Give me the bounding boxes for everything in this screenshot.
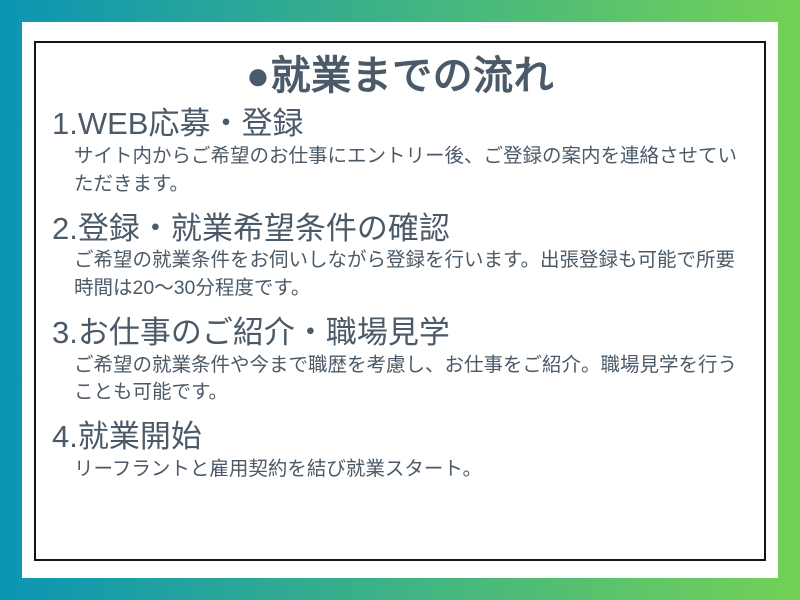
hand-drawn-frame: ●就業までの流れ 1.WEB応募・登録 サイト内からご希望のお仕事にエントリー後… (34, 41, 766, 561)
poster-root: ●就業までの流れ 1.WEB応募・登録 サイト内からご希望のお仕事にエントリー後… (0, 0, 800, 600)
step-4-heading: 4.就業開始 (52, 419, 750, 455)
step-3-body: ご希望の就業条件や今まで職歴を考慮し、お仕事をご紹介。職場見学を行うことも可能で… (74, 352, 750, 407)
step-1-heading: 1.WEB応募・登録 (52, 106, 750, 142)
page-title: ●就業までの流れ (50, 53, 750, 100)
step-item-2: 2.登録・就業希望条件の確認 ご希望の就業条件をお伺いしながら登録を行います。出… (50, 211, 750, 303)
step-2-body: ご希望の就業条件をお伺いしながら登録を行います。出張登録も可能で所要時間は20〜… (74, 247, 750, 302)
step-4-body: リーフラントと雇用契約を結び就業スタート。 (74, 456, 750, 484)
step-1-body: サイト内からご希望のお仕事にエントリー後、ご登録の案内を連絡させていただきます。 (74, 143, 750, 198)
step-item-4: 4.就業開始 リーフラントと雇用契約を結び就業スタート。 (50, 419, 750, 484)
step-item-1: 1.WEB応募・登録 サイト内からご希望のお仕事にエントリー後、ご登録の案内を連… (50, 106, 750, 198)
step-3-heading: 3.お仕事のご紹介・職場見学 (52, 315, 750, 351)
step-2-heading: 2.登録・就業希望条件の確認 (52, 211, 750, 247)
step-item-3: 3.お仕事のご紹介・職場見学 ご希望の就業条件や今まで職歴を考慮し、お仕事をご紹… (50, 315, 750, 407)
white-plate: ●就業までの流れ 1.WEB応募・登録 サイト内からご希望のお仕事にエントリー後… (22, 22, 778, 578)
poster-content: ●就業までの流れ 1.WEB応募・登録 サイト内からご希望のお仕事にエントリー後… (36, 43, 764, 559)
